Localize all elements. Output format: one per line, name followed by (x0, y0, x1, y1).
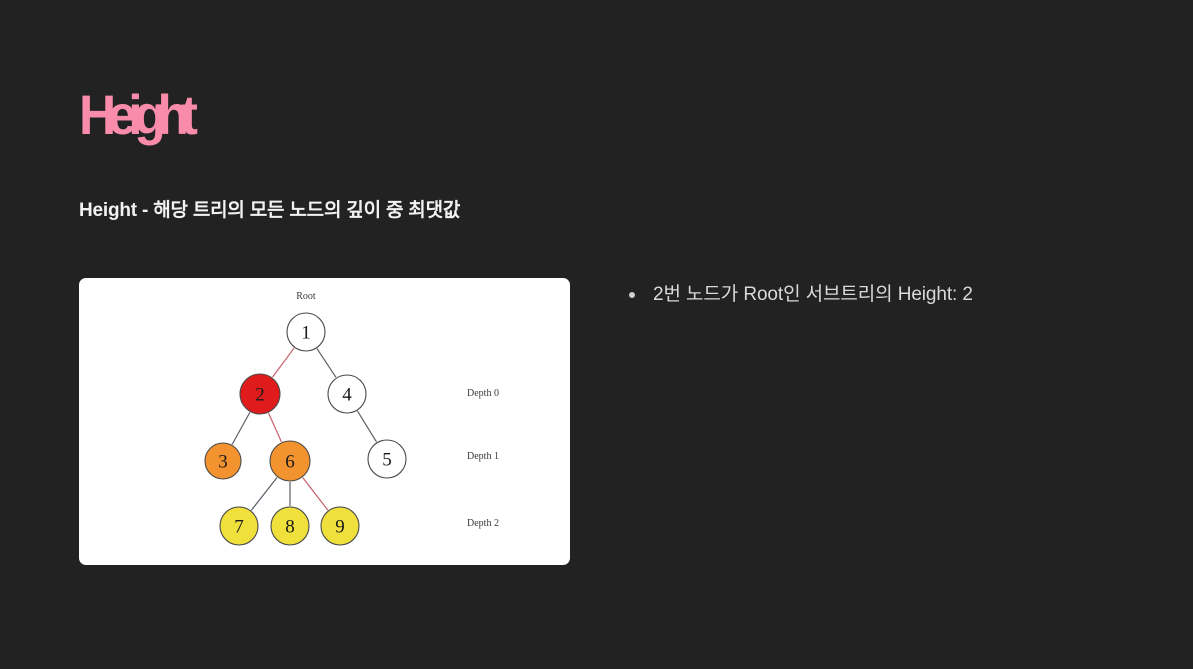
bullet-text: 2번 노드가 Root인 서브트리의 Height: 2 (653, 281, 973, 309)
tree-node-4: 4 (328, 375, 366, 413)
depth-label-layer: Depth 0Depth 1Depth 2 (467, 388, 499, 529)
tree-node-3: 3 (205, 443, 241, 479)
bullet-list: 2번 노드가 Root인 서브트리의 Height: 2 (629, 281, 1149, 309)
tree-node-9: 9 (321, 507, 359, 545)
depth-label-0: Depth 0 (467, 388, 499, 399)
binary-tree-diagram: 124365789 Root Depth 0Depth 1Depth 2 (79, 278, 570, 565)
bullet-dot-icon (629, 292, 635, 298)
tree-diagram-card: 124365789 Root Depth 0Depth 1Depth 2 (79, 278, 570, 565)
tree-edge-n6-n7 (251, 478, 277, 511)
tree-node-label-8: 8 (285, 517, 295, 538)
slide-root: Height Height - 해당 트리의 모든 노드의 깊이 중 최댓값 1… (0, 0, 1193, 669)
tree-node-8: 8 (271, 507, 309, 545)
tree-node-6: 6 (270, 441, 310, 481)
tree-node-layer: 124365789 (205, 313, 406, 545)
tree-edge-n6-n9 (303, 478, 328, 511)
root-caption: Root (296, 291, 316, 302)
depth-label-1: Depth 1 (467, 451, 499, 462)
tree-node-2: 2 (240, 374, 280, 414)
page-title: Height (79, 84, 190, 146)
tree-node-label-7: 7 (234, 517, 244, 538)
tree-node-5: 5 (368, 440, 406, 478)
tree-node-label-5: 5 (382, 450, 392, 471)
tree-edge-n4-n5 (357, 411, 376, 442)
tree-edge-n1-n2 (273, 348, 295, 377)
depth-label-2: Depth 2 (467, 518, 499, 529)
tree-node-label-3: 3 (218, 452, 228, 473)
tree-edge-n2-n6 (269, 413, 282, 442)
tree-edge-n2-n3 (232, 412, 250, 444)
tree-edge-n1-n4 (317, 349, 336, 378)
list-item: 2번 노드가 Root인 서브트리의 Height: 2 (629, 281, 1149, 309)
tree-node-label-6: 6 (285, 452, 295, 473)
tree-node-1: 1 (287, 313, 325, 351)
tree-edge-layer (232, 348, 376, 510)
tree-node-label-2: 2 (255, 385, 265, 406)
tree-node-label-1: 1 (301, 323, 311, 344)
tree-node-label-4: 4 (342, 385, 352, 406)
tree-node-7: 7 (220, 507, 258, 545)
tree-node-label-9: 9 (335, 517, 345, 538)
subtitle-definition: Height - 해당 트리의 모든 노드의 깊이 중 최댓값 (79, 195, 460, 222)
